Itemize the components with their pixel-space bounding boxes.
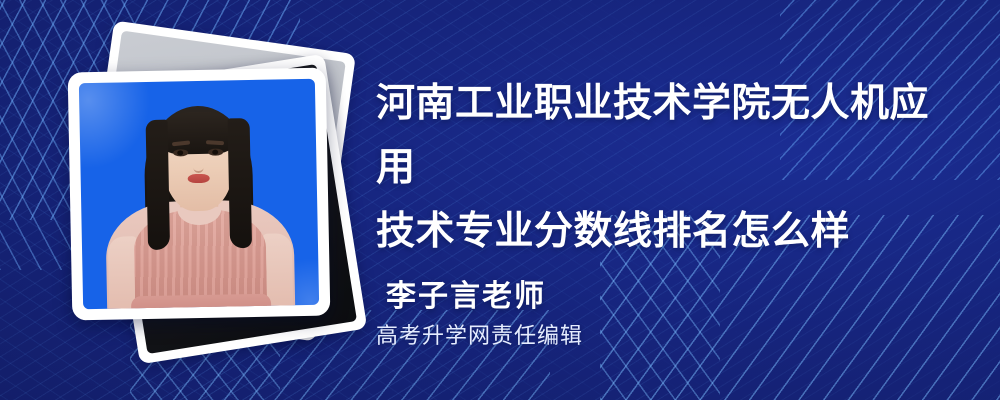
- portrait-figure: [79, 79, 319, 309]
- portrait-photo: [79, 79, 319, 309]
- author-name: 李子言老师: [386, 271, 546, 315]
- article-cover-banner: 河南工业职业技术学院无人机应用 技术专业分数线排名怎么样 李子言老师 高考升学网…: [0, 0, 1000, 400]
- portrait-hair-fringe: [156, 111, 239, 155]
- portrait-photo-stack: [55, 40, 355, 360]
- portrait-photo-frame: [68, 68, 331, 321]
- portrait-eye-right: [208, 148, 223, 155]
- portrait-eye-left: [173, 149, 188, 156]
- article-headline: 河南工业职业技术学院无人机应用 技术专业分数线排名怎么样: [376, 72, 956, 264]
- portrait-hair-left: [146, 120, 170, 250]
- portrait-lips: [188, 173, 210, 182]
- text-column: 河南工业职业技术学院无人机应用 技术专业分数线排名怎么样 李子言老师 高考升学网…: [376, 0, 976, 400]
- author-role: 高考升学网责任编辑: [376, 318, 583, 350]
- portrait-hair-right: [228, 118, 252, 248]
- portrait-dress-waist: [131, 293, 271, 309]
